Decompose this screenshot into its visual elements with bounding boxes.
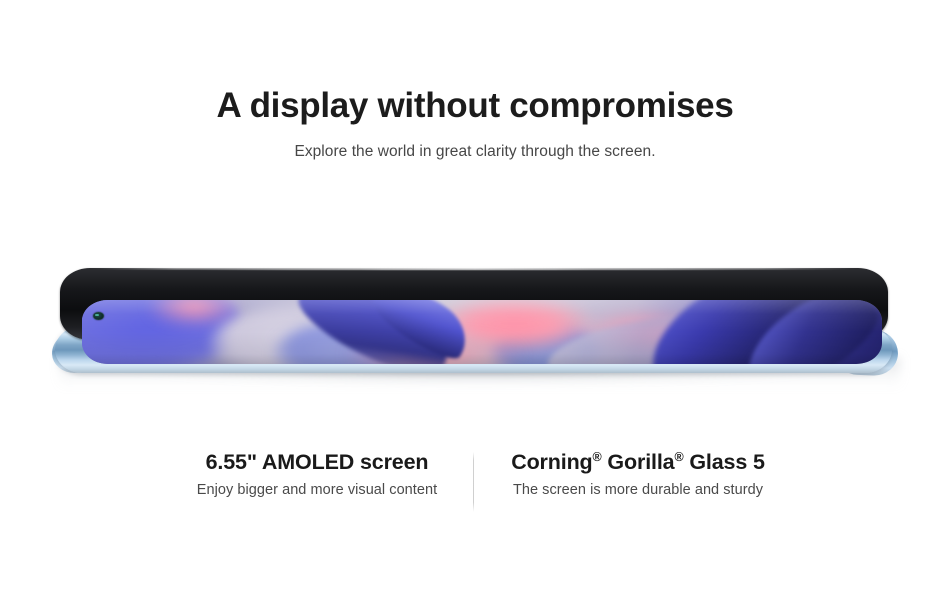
glass-edge-highlight bbox=[82, 267, 868, 270]
screen-glass-sheen bbox=[82, 300, 882, 364]
feature-subtitle: The screen is more durable and sturdy bbox=[488, 482, 788, 498]
registered-trademark-icon: ® bbox=[674, 450, 683, 464]
device-screen bbox=[82, 300, 882, 364]
feature-item-display: 6.55" AMOLED screen Enjoy bigger and mor… bbox=[167, 450, 467, 498]
feature-title-part-3: Glass 5 bbox=[684, 450, 765, 474]
smartphone-device bbox=[52, 238, 895, 373]
feature-title: 6.55" AMOLED screen bbox=[167, 450, 467, 475]
registered-trademark-icon: ® bbox=[593, 450, 602, 464]
feature-title: Corning® Gorilla® Glass 5 bbox=[488, 450, 788, 475]
front-camera-icon bbox=[93, 312, 104, 320]
page-title: A display without compromises bbox=[0, 88, 950, 125]
hero-image bbox=[0, 210, 950, 420]
feature-subtitle: Enjoy bigger and more visual content bbox=[167, 482, 467, 498]
device-bezel bbox=[60, 268, 888, 340]
feature-title-part-1: Corning bbox=[511, 450, 592, 474]
feature-strip: 6.55" AMOLED screen Enjoy bigger and mor… bbox=[0, 450, 950, 520]
feature-title-part-2: Gorilla bbox=[602, 450, 675, 474]
page-subtitle: Explore the world in great clarity throu… bbox=[0, 143, 950, 161]
product-feature-banner: A display without compromises Explore th… bbox=[0, 0, 950, 589]
feature-divider bbox=[473, 452, 474, 512]
feature-item-glass: Corning® Gorilla® Glass 5 The screen is … bbox=[488, 450, 788, 498]
